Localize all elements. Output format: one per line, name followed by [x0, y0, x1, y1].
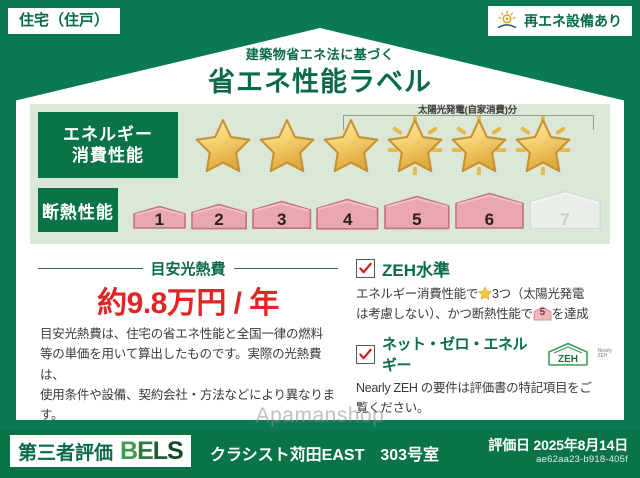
zeh-standard-title-row: ZEH水準 — [356, 256, 612, 281]
performance-panel: 太陽光発電(自家消費)分 エネルギー 消費性能 — [30, 104, 610, 244]
insulation-tile: 5 — [383, 195, 451, 230]
insulation-tile: 2 — [190, 203, 248, 231]
insulation-tile-scale: 1 2 3 4 5 6 — [132, 190, 602, 231]
estimated-cost-note: 目安光熱費は、住宅の省エネ性能と全国一律の燃料 等の単価を用いて算出したものです… — [40, 324, 340, 425]
third-party-evaluation-label: 第三者評価 — [18, 438, 113, 465]
bels-letter-l: L — [153, 437, 167, 465]
footer-bar: 第三者評価 BELS クラシスト苅田EAST 303号室 評価日 2025年8月… — [0, 430, 640, 478]
solar-portion-bracket — [343, 115, 594, 130]
insulation-tile: 4 — [315, 198, 380, 231]
zeh-logo-note: Nearly ZEH — [598, 349, 612, 360]
energy-performance-label: エネルギー 消費性能 — [38, 112, 178, 178]
insulation-tile-value: 4 — [315, 211, 380, 228]
estimated-cost-heading: 目安光熱費 — [38, 258, 338, 279]
renewable-equipment-badge: 再エネ設備あり — [488, 6, 632, 36]
cost-note-line-2: 等の単価を用いて算出したものです。実際の光熱費は、 — [40, 344, 340, 385]
bels-wordmark: BELS — [120, 439, 183, 464]
zeh-standard-title: ZEH水準 — [382, 256, 450, 281]
net-zero-description: Nearly ZEH の要件は評価書の特記項目をご 覧ください。 — [356, 378, 612, 418]
label-title: 省エネ性能ラベル — [16, 60, 624, 99]
check-icon — [359, 348, 372, 361]
inline-house-badge-value: 5 — [533, 308, 552, 318]
insulation-performance-row: 断熱性能 1 2 3 4 5 — [38, 188, 602, 232]
star-icon — [192, 115, 254, 175]
zeh-desc-part-b: は考慮しない）、かつ断熱性能で — [356, 307, 533, 321]
cost-note-line-1: 目安光熱費は、住宅の省エネ性能と全国一律の燃料 — [40, 324, 340, 344]
cost-note-line-3: 使用条件や設備、契約会社・方法などにより異なります。 — [40, 385, 340, 426]
insulation-performance-label: 断熱性能 — [38, 188, 118, 232]
star-icon — [256, 115, 318, 175]
sun-icon — [496, 10, 518, 32]
net-zero-energy-item: ネット・ゼロ・エネルギー ZEH Nearly ZEH — [356, 333, 612, 418]
insulation-tile-value: 1 — [132, 211, 187, 228]
insulation-tile-value: 7 — [528, 211, 602, 228]
insulation-tile: 1 — [132, 205, 187, 230]
heading-rule-left — [38, 268, 143, 270]
bels-letter-s: S — [167, 437, 183, 465]
net-zero-title: ネット・ゼロ・エネルギー — [382, 333, 538, 375]
evaluation-date: 評価日 2025年8月14日 — [488, 435, 628, 455]
net-zero-desc-line-2: 覧ください。 — [356, 398, 612, 418]
zeh-desc-part-c: を達成 — [552, 307, 589, 321]
insulation-tile-value: 5 — [383, 211, 451, 228]
inline-star-icon — [478, 286, 492, 300]
insulation-tile-value: 2 — [190, 211, 248, 228]
zeh-standard-description: エネルギー消費性能で3つ（太陽光発電 は考慮しない）、かつ断熱性能で5を達成 — [356, 284, 612, 324]
label-root: 住宅（住戸） 再エネ設備あり 建築物省エネ法に基づく 省エネ性能ラベル — [0, 0, 640, 478]
energy-label-line2: 消費性能 — [72, 145, 144, 166]
zeh-logo-note-line2: ZEH — [598, 353, 608, 359]
check-icon — [359, 262, 372, 275]
insulation-tile: 6 — [454, 192, 525, 230]
estimated-cost-value: 約9.8万円 / 年 — [38, 278, 338, 322]
bels-letter-b: B — [120, 437, 137, 465]
inline-house-badge-icon: 5 — [533, 306, 552, 321]
category-badge: 住宅（住戸） — [8, 8, 120, 34]
bels-letter-e: E — [137, 437, 153, 465]
solar-portion-note: 太陽光発電(自家消費)分 — [341, 102, 594, 116]
zeh-standard-item: ZEH水準 エネルギー消費性能で3つ（太陽光発電 は考慮しない）、かつ断熱性能で… — [356, 256, 612, 324]
insulation-tile-value: 3 — [251, 211, 312, 228]
zeh-logo-icon: ZEH — [545, 341, 591, 367]
net-zero-desc-line-1: Nearly ZEH の要件は評価書の特記項目をご — [356, 378, 612, 398]
building-name: クラシスト苅田EAST 303号室 — [210, 441, 439, 465]
bels-logo-box: 第三者評価 BELS — [10, 435, 191, 467]
heading-rule-right — [234, 268, 339, 270]
insulation-tile-value: 6 — [454, 211, 525, 228]
zeh-standard-checkbox[interactable] — [356, 259, 375, 278]
zeh-section: ZEH水準 エネルギー消費性能で3つ（太陽光発電 は考慮しない）、かつ断熱性能で… — [356, 256, 612, 422]
renewable-badge-label: 再エネ設備あり — [524, 14, 622, 28]
estimated-cost-label: 目安光熱費 — [151, 258, 226, 279]
energy-label-line1: エネルギー — [63, 124, 153, 145]
evaluation-id: ae62aa23-b918-405f — [536, 454, 628, 465]
svg-text:ZEH: ZEH — [558, 354, 578, 365]
net-zero-title-row: ネット・ゼロ・エネルギー ZEH Nearly ZEH — [356, 333, 612, 375]
net-zero-checkbox[interactable] — [356, 345, 375, 364]
zeh-desc-star-count: 3つ（太陽光発電 — [492, 287, 584, 301]
insulation-tile: 7 — [528, 190, 602, 231]
label-card: 建築物省エネ法に基づく 省エネ性能ラベル 太陽光発電(自家消費)分 エネルギー … — [16, 28, 624, 420]
zeh-desc-part-a: エネルギー消費性能で — [356, 287, 478, 301]
insulation-tile: 3 — [251, 200, 312, 230]
